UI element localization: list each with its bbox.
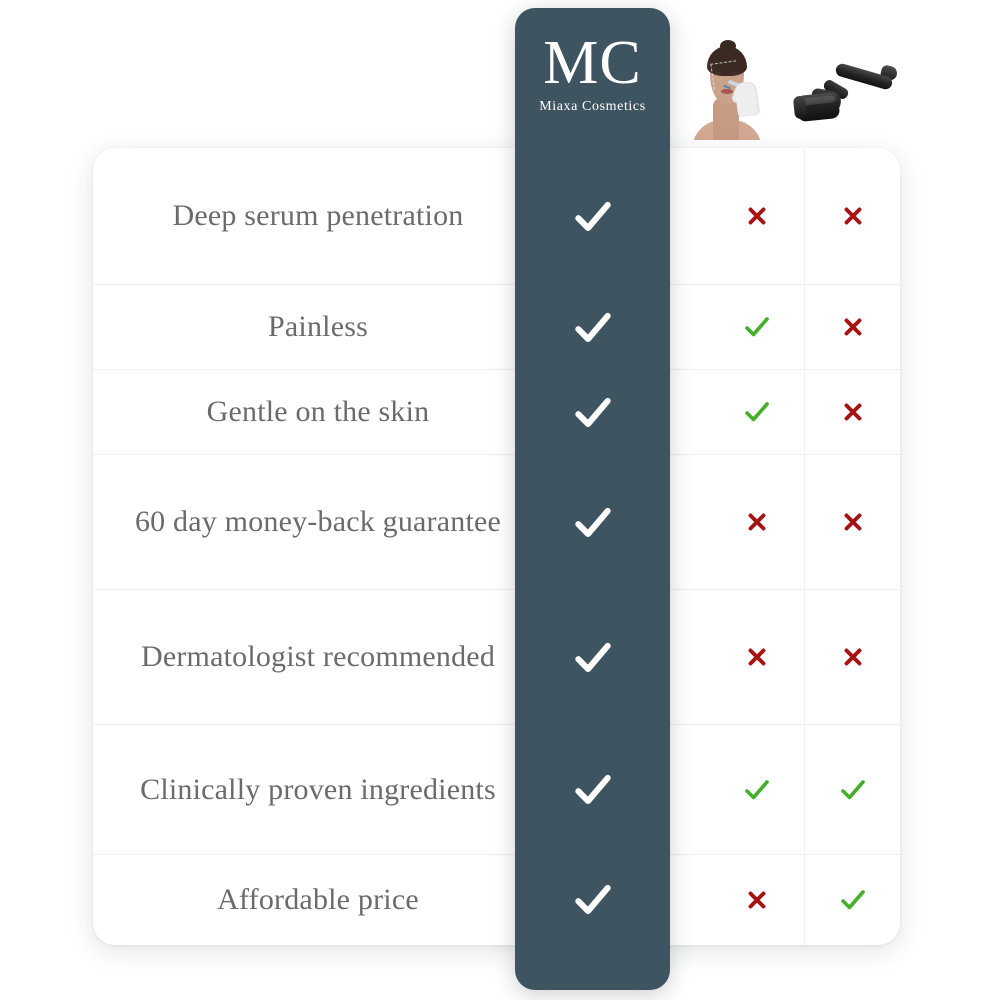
table-row: Painless xyxy=(93,285,900,370)
comparison-table-graphic: Deep serum penetrationPainlessGentle on … xyxy=(0,0,1000,1000)
brand-check-column xyxy=(515,148,670,945)
cross-icon xyxy=(744,887,770,913)
check-icon xyxy=(742,775,772,805)
cross-icon xyxy=(840,314,866,340)
cell-injections xyxy=(710,590,805,724)
feature-label: Painless xyxy=(93,285,543,369)
table-row: Clinically proven ingredients xyxy=(93,725,900,855)
cell-injections xyxy=(710,370,805,454)
feature-label: Clinically proven ingredients xyxy=(93,725,543,854)
cell-injections xyxy=(710,725,805,854)
check-icon xyxy=(838,885,868,915)
check-icon xyxy=(571,636,615,680)
cell-derma-roller xyxy=(805,285,900,369)
cell-derma-roller xyxy=(805,370,900,454)
brand-check-cell xyxy=(515,725,670,855)
check-icon xyxy=(571,195,615,239)
brand-logo: MC Miaxa Cosmetics xyxy=(539,34,646,115)
cell-derma-roller xyxy=(805,148,900,284)
cross-icon xyxy=(840,203,866,229)
brand-name: Miaxa Cosmetics xyxy=(539,99,646,115)
check-icon xyxy=(742,312,772,342)
table-row: 60 day money-back guarantee xyxy=(93,455,900,590)
brand-check-cell xyxy=(515,148,670,285)
cell-derma-roller xyxy=(805,855,900,945)
feature-label: Gentle on the skin xyxy=(93,370,543,454)
brand-check-cell xyxy=(515,855,670,945)
brand-check-cell xyxy=(515,590,670,725)
check-icon xyxy=(571,306,615,350)
cell-derma-roller xyxy=(805,590,900,724)
cross-icon xyxy=(744,644,770,670)
cell-derma-roller xyxy=(805,725,900,854)
competitor-header-derma-roller xyxy=(785,8,900,140)
check-icon xyxy=(571,391,615,435)
cell-injections xyxy=(710,148,805,284)
competitor-header-strip xyxy=(670,8,900,140)
feature-label: Dermatologist recommended xyxy=(93,590,543,724)
brand-column-miaxa: MC Miaxa Cosmetics xyxy=(515,8,670,990)
feature-label: Affordable price xyxy=(93,855,543,945)
table-row: Gentle on the skin xyxy=(93,370,900,455)
comparison-card: Deep serum penetrationPainlessGentle on … xyxy=(93,148,900,945)
cell-injections xyxy=(710,855,805,945)
feature-label: 60 day money-back guarantee xyxy=(93,455,543,589)
brand-check-cell xyxy=(515,370,670,455)
check-icon xyxy=(571,501,615,545)
cell-derma-roller xyxy=(805,455,900,589)
woman-injection-photo xyxy=(690,32,766,140)
derma-roller-photo xyxy=(791,58,895,140)
check-icon xyxy=(571,768,615,812)
cell-injections xyxy=(710,285,805,369)
brand-check-cell xyxy=(515,455,670,590)
check-icon xyxy=(742,397,772,427)
check-icon xyxy=(838,775,868,805)
check-icon xyxy=(571,878,615,922)
brand-check-cell xyxy=(515,285,670,370)
brand-monogram: MC xyxy=(539,34,646,93)
table-row: Dermatologist recommended xyxy=(93,590,900,725)
cell-injections xyxy=(710,455,805,589)
table-row: Affordable price xyxy=(93,855,900,945)
feature-label: Deep serum penetration xyxy=(93,148,543,284)
cross-icon xyxy=(840,399,866,425)
table-row: Deep serum penetration xyxy=(93,148,900,285)
cross-icon xyxy=(744,509,770,535)
cross-icon xyxy=(840,644,866,670)
cross-icon xyxy=(744,203,770,229)
cross-icon xyxy=(840,509,866,535)
competitor-header-injections xyxy=(670,8,785,140)
